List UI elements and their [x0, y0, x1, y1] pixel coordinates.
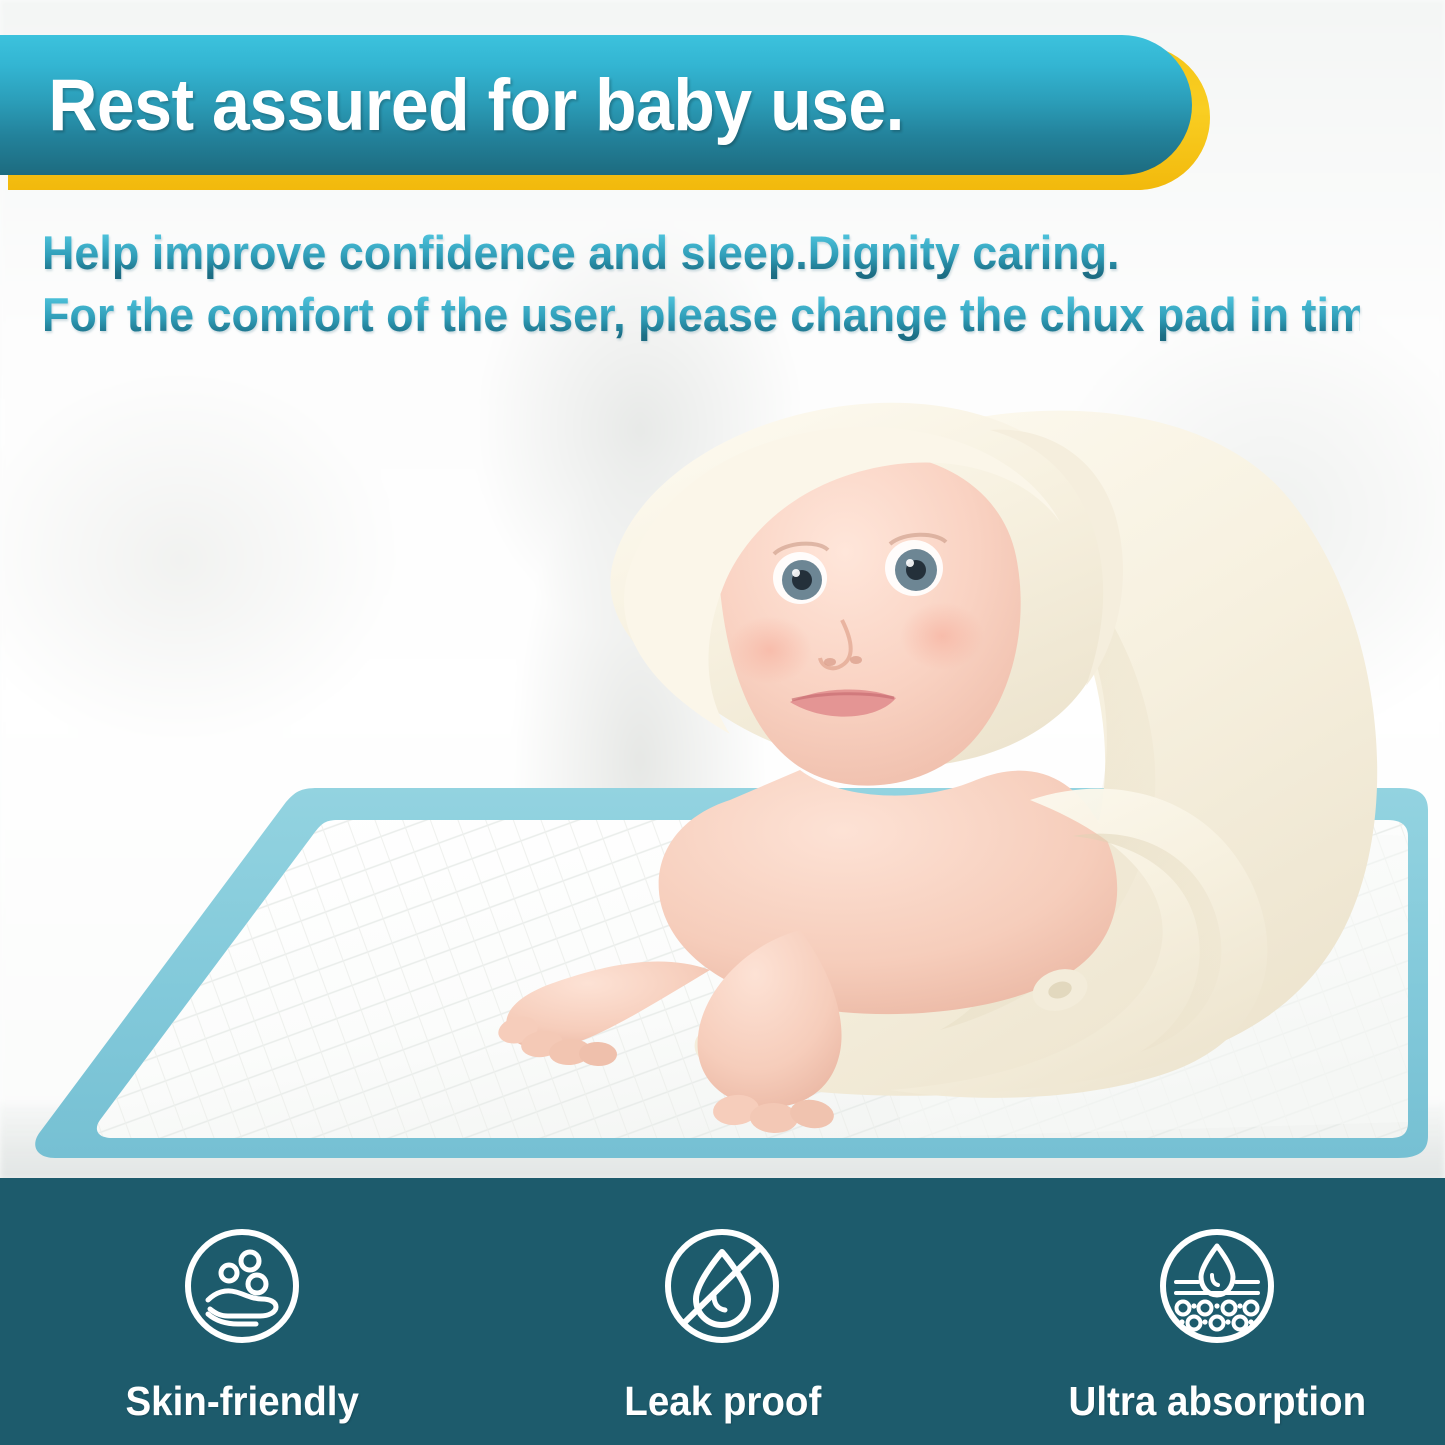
subcopy-line-1: Help improve confidence and sleep.Dignit… — [42, 222, 1360, 284]
feature-label: Ultra absorption — [1068, 1378, 1366, 1425]
subcopy-block: Help improve confidence and sleep.Dignit… — [42, 222, 1422, 346]
baby-photo — [330, 330, 1420, 1160]
product-feature-image: Rest assured for baby use. Help improve … — [0, 0, 1445, 1445]
feature-leak-proof: Leak proof — [470, 1178, 950, 1445]
feature-label: Leak proof — [624, 1378, 821, 1425]
hand-with-bubbles-icon — [182, 1226, 302, 1346]
feature-ultra-absorption: Ultra absorption — [951, 1178, 1445, 1445]
subcopy-line-2: For the comfort of the user, please chan… — [42, 284, 1360, 346]
headline-banner: Rest assured for baby use. — [0, 35, 1210, 190]
feature-skin-friendly: Skin-friendly — [0, 1178, 470, 1445]
feature-label: Skin-friendly — [125, 1378, 358, 1425]
absorption-layers-icon — [1157, 1226, 1277, 1346]
no-water-drop-icon — [662, 1226, 782, 1346]
feature-bar: Skin-friendly Leak proof — [0, 1178, 1445, 1445]
banner-body: Rest assured for baby use. — [0, 35, 1192, 175]
headline-text: Rest assured for baby use. — [0, 64, 904, 147]
